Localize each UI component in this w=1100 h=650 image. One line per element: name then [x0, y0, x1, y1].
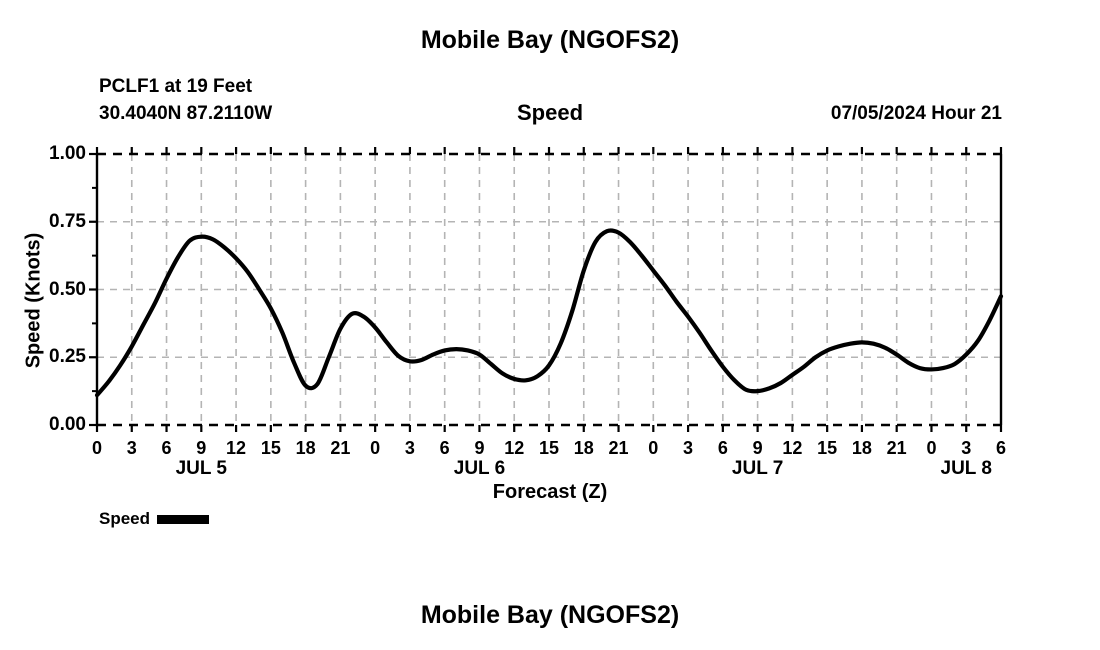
legend-swatch-speed	[157, 515, 209, 524]
day-label: JUL 7	[698, 458, 818, 480]
x-axis-label: Forecast (Z)	[0, 481, 1100, 504]
chart-figure: Mobile Bay (NGOFS2) PCLF1 at 19 Feet 30.…	[0, 0, 1100, 650]
model-run-time-label: 07/05/2024 Hour 21	[831, 103, 1002, 125]
x-tick-label: 6	[981, 438, 1021, 459]
y-tick-label: 0.75	[16, 211, 86, 233]
y-tick-label: 1.00	[16, 143, 86, 165]
legend-label: Speed	[99, 509, 150, 529]
day-label: JUL 8	[906, 458, 1026, 480]
gridlines	[97, 154, 1001, 425]
station-label: PCLF1 at 19 Feet	[99, 76, 252, 98]
y-tick-label: 0.00	[16, 414, 86, 436]
y-tick-label: 0.50	[16, 279, 86, 301]
y-tick-label: 0.25	[16, 346, 86, 368]
main-title: Mobile Bay (NGOFS2)	[0, 26, 1100, 55]
legend: Speed	[99, 509, 209, 529]
day-label: JUL 6	[419, 458, 539, 480]
bottom-title: Mobile Bay (NGOFS2)	[0, 601, 1100, 630]
day-label: JUL 5	[141, 458, 261, 480]
